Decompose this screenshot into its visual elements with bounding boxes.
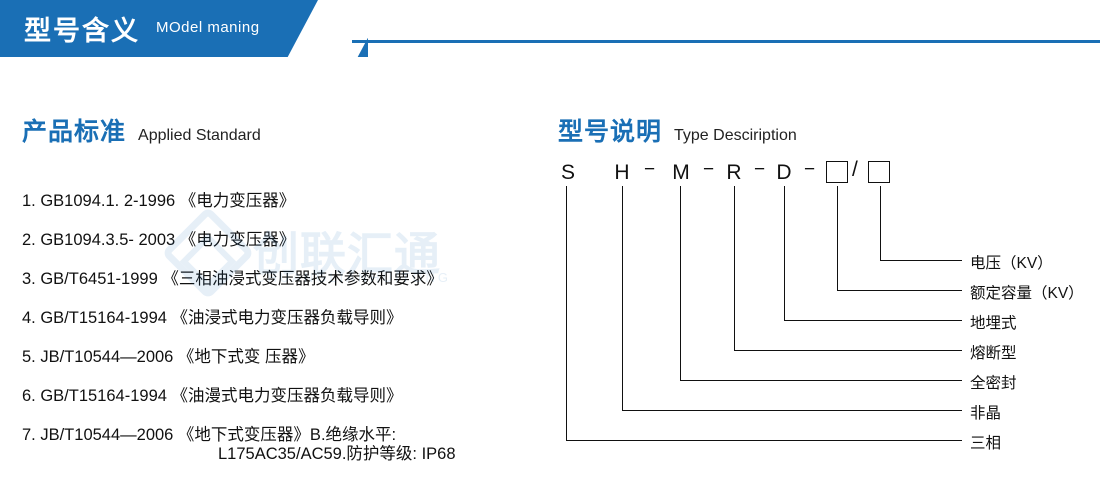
list-item: 3. GB/T6451-1999 《三相油浸式变压器技术参数和要求》 [22,270,542,289]
leader-hline-capacity [837,290,962,291]
callout-label-sealed: 全密封 [970,371,1017,393]
callout-label-threephase: 三相 [970,431,1001,453]
code-dash-4: − [804,159,815,181]
leader-hline-fuse [734,350,962,351]
list-item-continuation: L175AC35/AC59.防护等级: IP68 [218,440,456,464]
code-char-r: R [724,158,744,188]
standards-title-cn: 产品标准 [22,112,126,148]
page-header-banner: 型号含义 MOdel maning [0,0,368,57]
type-section-title: 型号说明 Type Desciription [558,112,797,148]
leader-hline-voltage [880,260,962,261]
list-item: 6. GB/T15164-1994 《油漫式电力变压器负载导则》 [22,387,542,406]
callout-label-fuse: 熔断型 [970,341,1017,363]
standards-list: 1. GB1094.1. 2-1996 《电力变压器》 2. GB1094.3.… [22,192,542,465]
list-item: 2. GB1094.3.5- 2003 《电力变压器》 [22,231,542,250]
code-char-h: H [612,158,632,188]
leader-hline-threephase [566,440,962,441]
leader-vline-threephase [566,186,567,440]
leader-vline-sealed [680,186,681,380]
leader-vline-fuse [734,186,735,350]
code-box-capacity [826,161,848,183]
type-title-en: Type Desciription [674,127,797,145]
model-code-diagram: S H − M − R − D − / 电压（KV） 额定容量（KV） 地埋式 … [548,150,1093,490]
code-char-s: S [558,158,578,188]
code-box-voltage [868,161,890,183]
banner-skew-decoration [288,0,368,57]
callout-label-capacity: 额定容量（KV） [970,281,1084,303]
code-char-d: D [774,158,794,188]
type-title-cn: 型号说明 [558,112,662,148]
header-title-en: MOdel maning [156,19,260,38]
code-dash-3: − [754,159,765,181]
callout-label-buried: 地埋式 [970,311,1017,333]
header-title-cn: 型号含义 [24,9,140,48]
callout-label-amorphous: 非晶 [970,401,1001,423]
list-item: 1. GB1094.1. 2-1996 《电力变压器》 [22,192,542,211]
code-dash-2: − [703,159,714,181]
standards-section-title: 产品标准 Applied Standard [22,112,261,148]
code-slash: / [852,158,858,182]
header-rule [352,40,1100,43]
leader-hline-sealed [680,380,962,381]
leader-hline-buried [784,320,962,321]
leader-vline-buried [784,186,785,320]
standards-title-en: Applied Standard [138,127,261,145]
list-item: 4. GB/T15164-1994 《油浸式电力变压器负载导则》 [22,309,542,328]
leader-vline-voltage [880,186,881,260]
callout-label-voltage: 电压（KV） [970,251,1053,273]
code-dash-1: − [644,159,655,181]
list-item: 5. JB/T10544—2006 《地下式变 压器》 [22,348,542,367]
leader-hline-amorphous [622,410,962,411]
code-char-m: M [670,158,692,188]
leader-vline-capacity [837,186,838,290]
leader-vline-amorphous [622,186,623,410]
